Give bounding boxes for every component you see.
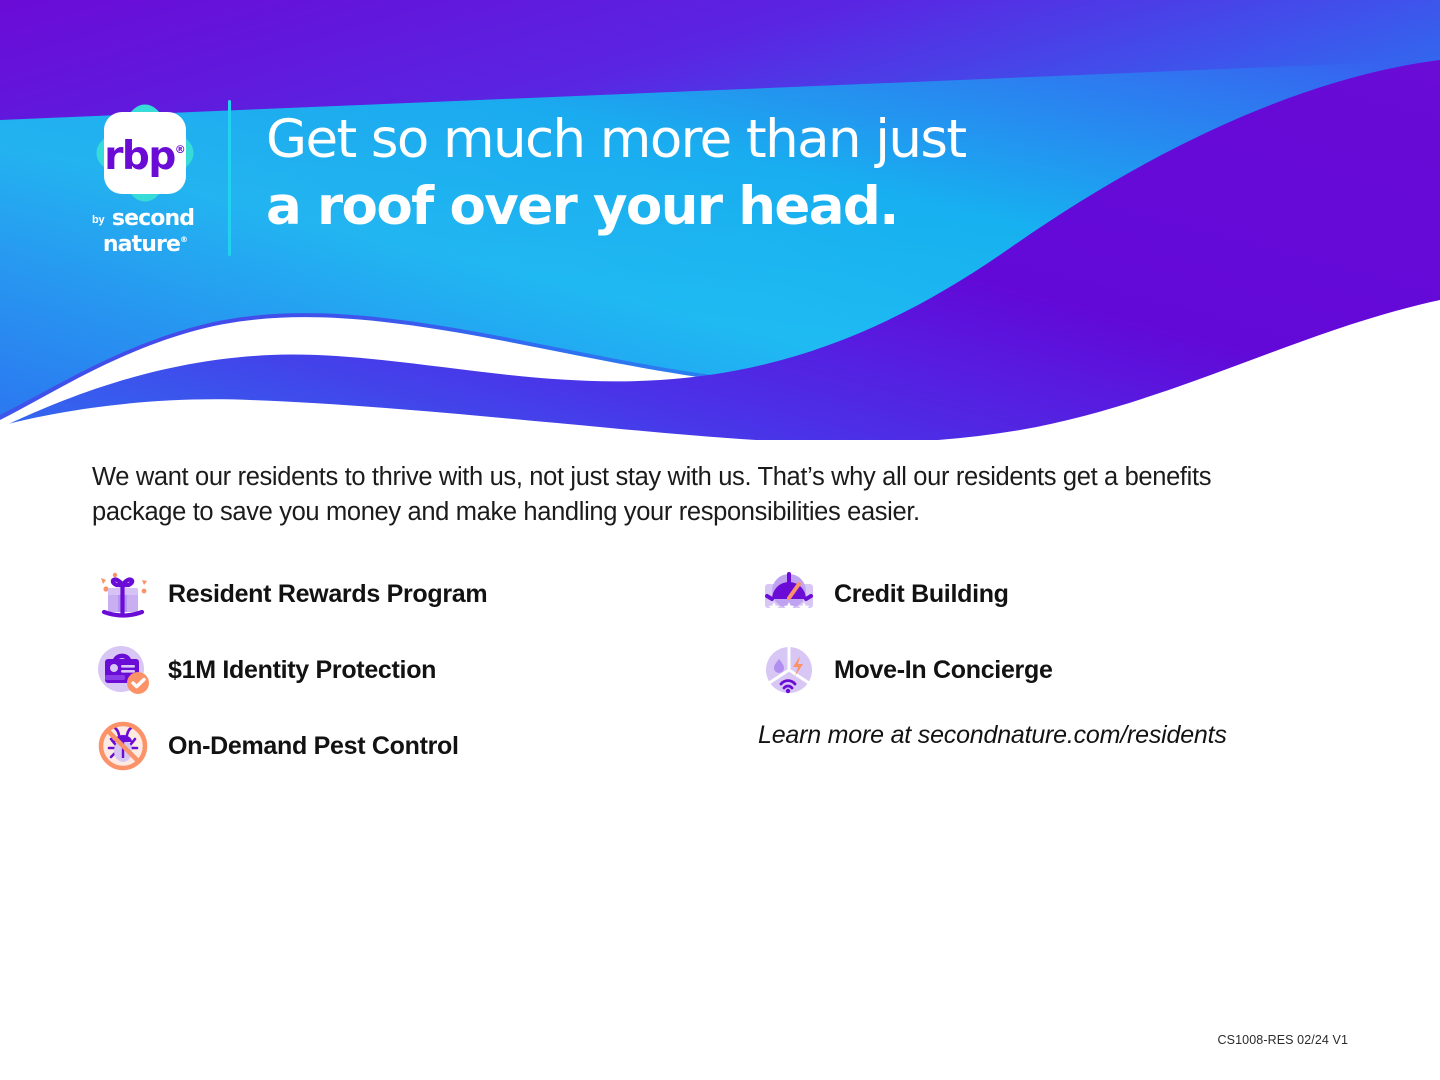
rbp-wordmark: rbp® xyxy=(90,128,200,179)
intro-paragraph: We want our residents to thrive with us,… xyxy=(92,460,1307,530)
header-vertical-divider xyxy=(228,100,231,256)
no-pest-icon xyxy=(92,715,154,777)
benefit-item-pest-control: On-Demand Pest Control xyxy=(92,708,712,784)
utilities-circle-icon xyxy=(758,639,820,701)
second-nature-wordmark: second nature® xyxy=(84,208,206,255)
second-nature-line2: nature® xyxy=(84,229,206,255)
gift-box-icon xyxy=(92,563,154,625)
benefit-label: Resident Rewards Program xyxy=(168,580,487,609)
benefits-column-right: Credit Building xyxy=(758,556,1358,708)
benefit-item-resident-rewards: Resident Rewards Program xyxy=(92,556,712,632)
second-nature-registered-mark: ® xyxy=(180,235,187,244)
benefit-label: On-Demand Pest Control xyxy=(168,732,459,761)
headline-line-1: Get so much more than just xyxy=(266,106,1166,173)
benefit-label: Credit Building xyxy=(834,580,1009,609)
id-badge-shield-icon xyxy=(92,639,154,701)
benefit-item-move-in-concierge: Move-In Concierge xyxy=(758,632,1358,708)
learn-more-link[interactable]: Learn more at secondnature.com/residents xyxy=(758,721,1227,750)
benefit-item-credit-building: Credit Building xyxy=(758,556,1358,632)
rbp-registered-mark: ® xyxy=(175,143,186,156)
document-code: CS1008-RES 02/24 V1 xyxy=(1218,1033,1348,1047)
rbp-logo-lockup: rbp® by second nature® xyxy=(84,98,206,258)
page-title: Get so much more than just a roof over y… xyxy=(266,106,1166,240)
benefits-column-left: Resident Rewards Program $1M Identity Pr… xyxy=(92,556,712,784)
rbp-wordmark-text: rbp xyxy=(104,134,175,179)
benefit-label: Move-In Concierge xyxy=(834,656,1053,685)
second-nature-line1: second xyxy=(84,208,206,229)
headline-line-2: a roof over your head. xyxy=(266,173,1166,240)
rbp-logo-mark: rbp® xyxy=(90,98,200,208)
credit-gauge-stars-icon xyxy=(758,563,820,625)
hero-banner: rbp® by second nature® Get so much more … xyxy=(0,0,1440,440)
benefit-item-identity-protection: $1M Identity Protection xyxy=(92,632,712,708)
benefit-label: $1M Identity Protection xyxy=(168,656,436,685)
